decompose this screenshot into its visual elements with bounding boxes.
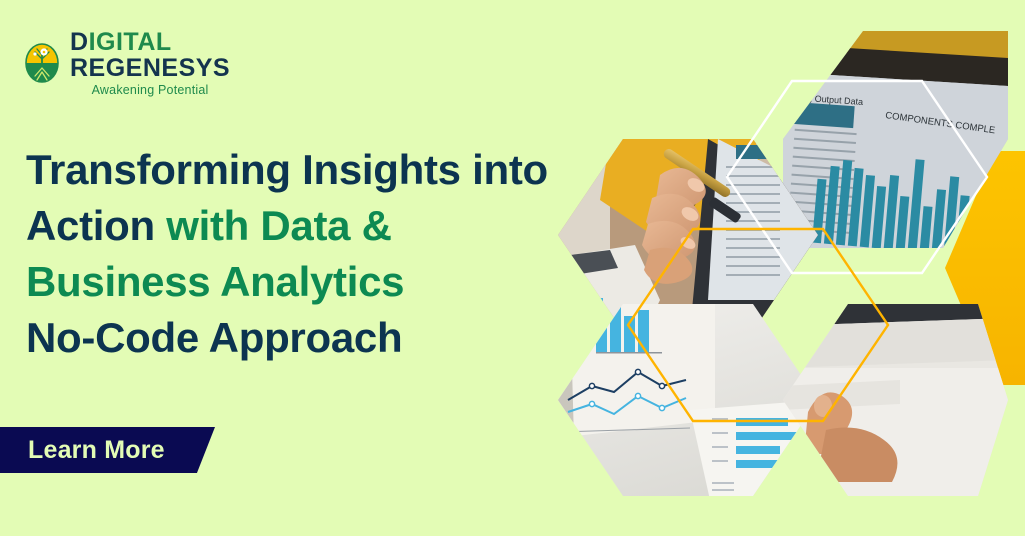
hex-photo-finger-bottom-right [780,295,1020,508]
headline-line-3: Business Analytics [26,254,546,310]
headline-line-2-navy: Action [26,202,166,249]
headline-block: Transforming Insights into Action with D… [26,142,546,365]
headline-line-1: Transforming Insights into [26,142,546,198]
logo-wordmark: DIGITAL REGENESYS Awakening Potential [70,30,230,97]
headline-line-4: No-Code Approach [26,310,546,366]
logo-line-2: REGENESYS [70,56,230,81]
headline-line-2-green: with Data & [166,202,391,249]
banner-root: DIGITAL REGENESYS Awakening Potential Tr… [0,0,1025,536]
logo-line-1: DIGITAL [70,30,230,55]
logo-line-1-rest: IGITAL [89,28,172,56]
hexagon-collage: uring Output Data COMPONENTS COMPLE [540,0,1025,536]
brand-logo[interactable]: DIGITAL REGENESYS Awakening Potential [22,30,230,97]
tree-emblem-icon [22,41,62,85]
logo-line-1-d: D [70,28,89,56]
logo-tagline: Awakening Potential [70,84,230,97]
headline-line-2: Action with Data & [26,198,546,254]
learn-more-label: Learn More [28,436,165,465]
learn-more-button[interactable]: Learn More [0,427,215,473]
